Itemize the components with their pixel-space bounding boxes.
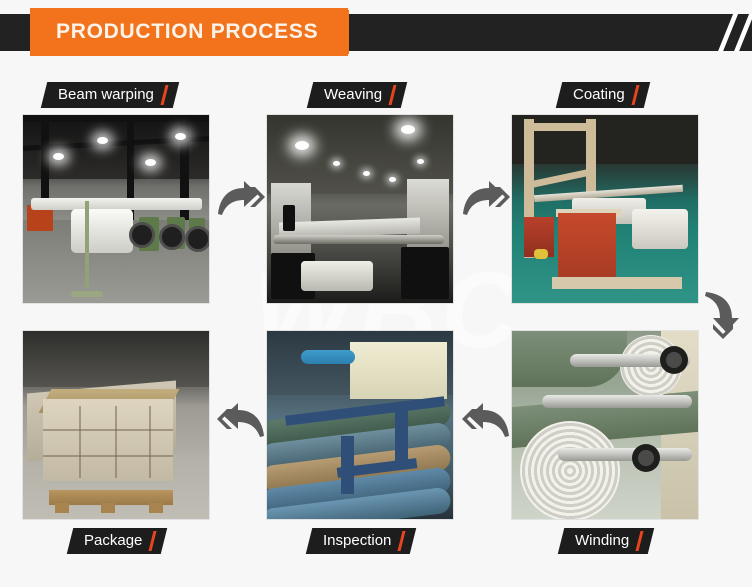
- tag-accent-icon: [160, 85, 168, 105]
- winding-photo: [511, 330, 699, 520]
- step-weaving: Weaving: [266, 82, 456, 304]
- step-winding: Winding: [511, 330, 701, 560]
- step-label-winding: Winding: [558, 528, 655, 554]
- arrow-right-icon: [214, 176, 268, 220]
- step-label-coating: Coating: [556, 82, 650, 108]
- step-inspection: Inspection: [266, 330, 456, 560]
- weaving-photo: [266, 114, 454, 304]
- step-coating: Coating: [511, 82, 701, 304]
- tag-accent-icon: [636, 531, 644, 551]
- step-label-package: Package: [67, 528, 168, 554]
- arrow-left-icon: [214, 398, 268, 442]
- arrow-right-icon: [459, 176, 513, 220]
- inspection-photo: [266, 330, 454, 520]
- beam-warping-photo: [22, 114, 210, 304]
- tag-accent-icon: [389, 85, 397, 105]
- step-label-inspection: Inspection: [306, 528, 417, 554]
- production-process-infographic: PRODUCTION PROCESS WBC Beam warping: [0, 0, 752, 587]
- tag-accent-icon: [149, 531, 157, 551]
- package-photo: [22, 330, 210, 520]
- tag-accent-icon: [631, 85, 639, 105]
- step-package: Package: [22, 330, 212, 560]
- step-label-weaving: Weaving: [307, 82, 408, 108]
- header-accent-tick: [345, 10, 349, 54]
- coating-photo: [511, 114, 699, 304]
- tag-accent-icon: [398, 531, 406, 551]
- arrow-down-icon: [700, 288, 744, 340]
- page-title: PRODUCTION PROCESS: [30, 8, 348, 56]
- step-label-beam-warping: Beam warping: [41, 82, 179, 108]
- step-beam-warping: Beam warping: [22, 82, 212, 304]
- arrow-left-icon: [459, 398, 513, 442]
